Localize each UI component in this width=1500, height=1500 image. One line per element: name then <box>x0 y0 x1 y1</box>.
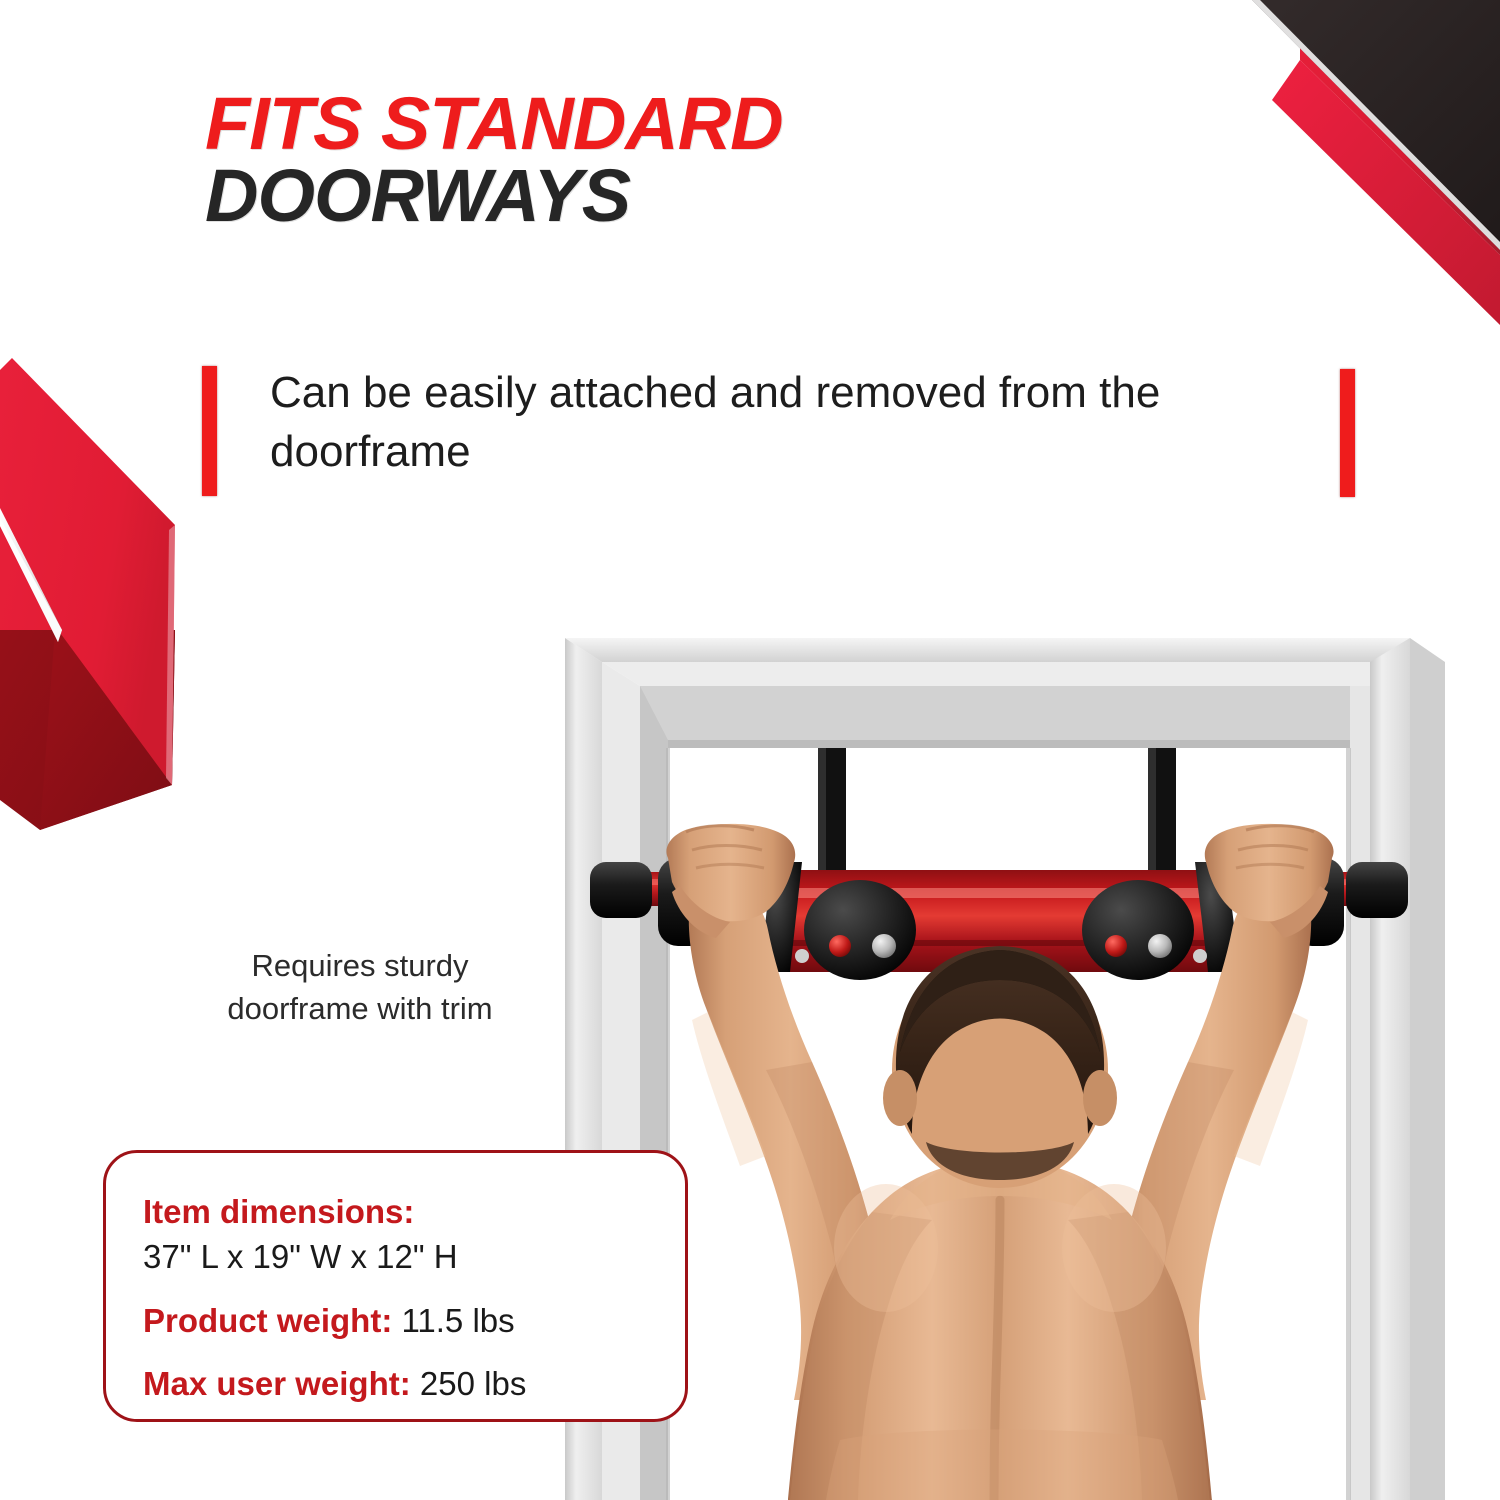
requirement-note-line-2: doorframe with trim <box>227 991 492 1026</box>
requirement-note: Requires sturdy doorframe with trim <box>160 945 560 1031</box>
spec-dimensions-row: Item dimensions: 37" L x 19" W x 12" H <box>143 1191 685 1277</box>
subheadline-text: Can be easily attached and removed from … <box>270 363 1280 482</box>
headline-line-2: DOORWAYS <box>205 160 1305 232</box>
spec-max-user-weight-row: Max user weight: 250 lbs <box>143 1363 685 1405</box>
requirement-note-line-1: Requires sturdy <box>251 948 468 983</box>
spec-product-weight-row: Product weight: 11.5 lbs <box>143 1300 685 1342</box>
accent-bar-right <box>1340 369 1355 497</box>
headline-line-1: FITS STANDARD <box>205 88 1305 160</box>
spec-product-weight-label: Product weight: <box>143 1302 392 1339</box>
spec-box: Item dimensions: 37" L x 19" W x 12" H P… <box>103 1150 688 1422</box>
mount-straps <box>818 748 1176 883</box>
spec-product-weight-value: 11.5 lbs <box>402 1302 515 1339</box>
spec-dimensions-value: 37" L x 19" W x 12" H <box>143 1236 685 1278</box>
spec-max-user-weight-value: 250 lbs <box>420 1365 526 1402</box>
spec-dimensions-label: Item dimensions: <box>143 1193 414 1230</box>
page-title: FITS STANDARD DOORWAYS <box>205 88 1305 232</box>
spec-max-user-weight-label: Max user weight: <box>143 1365 411 1402</box>
accent-bar-left <box>202 366 217 496</box>
decor-left-chevron <box>0 330 220 850</box>
